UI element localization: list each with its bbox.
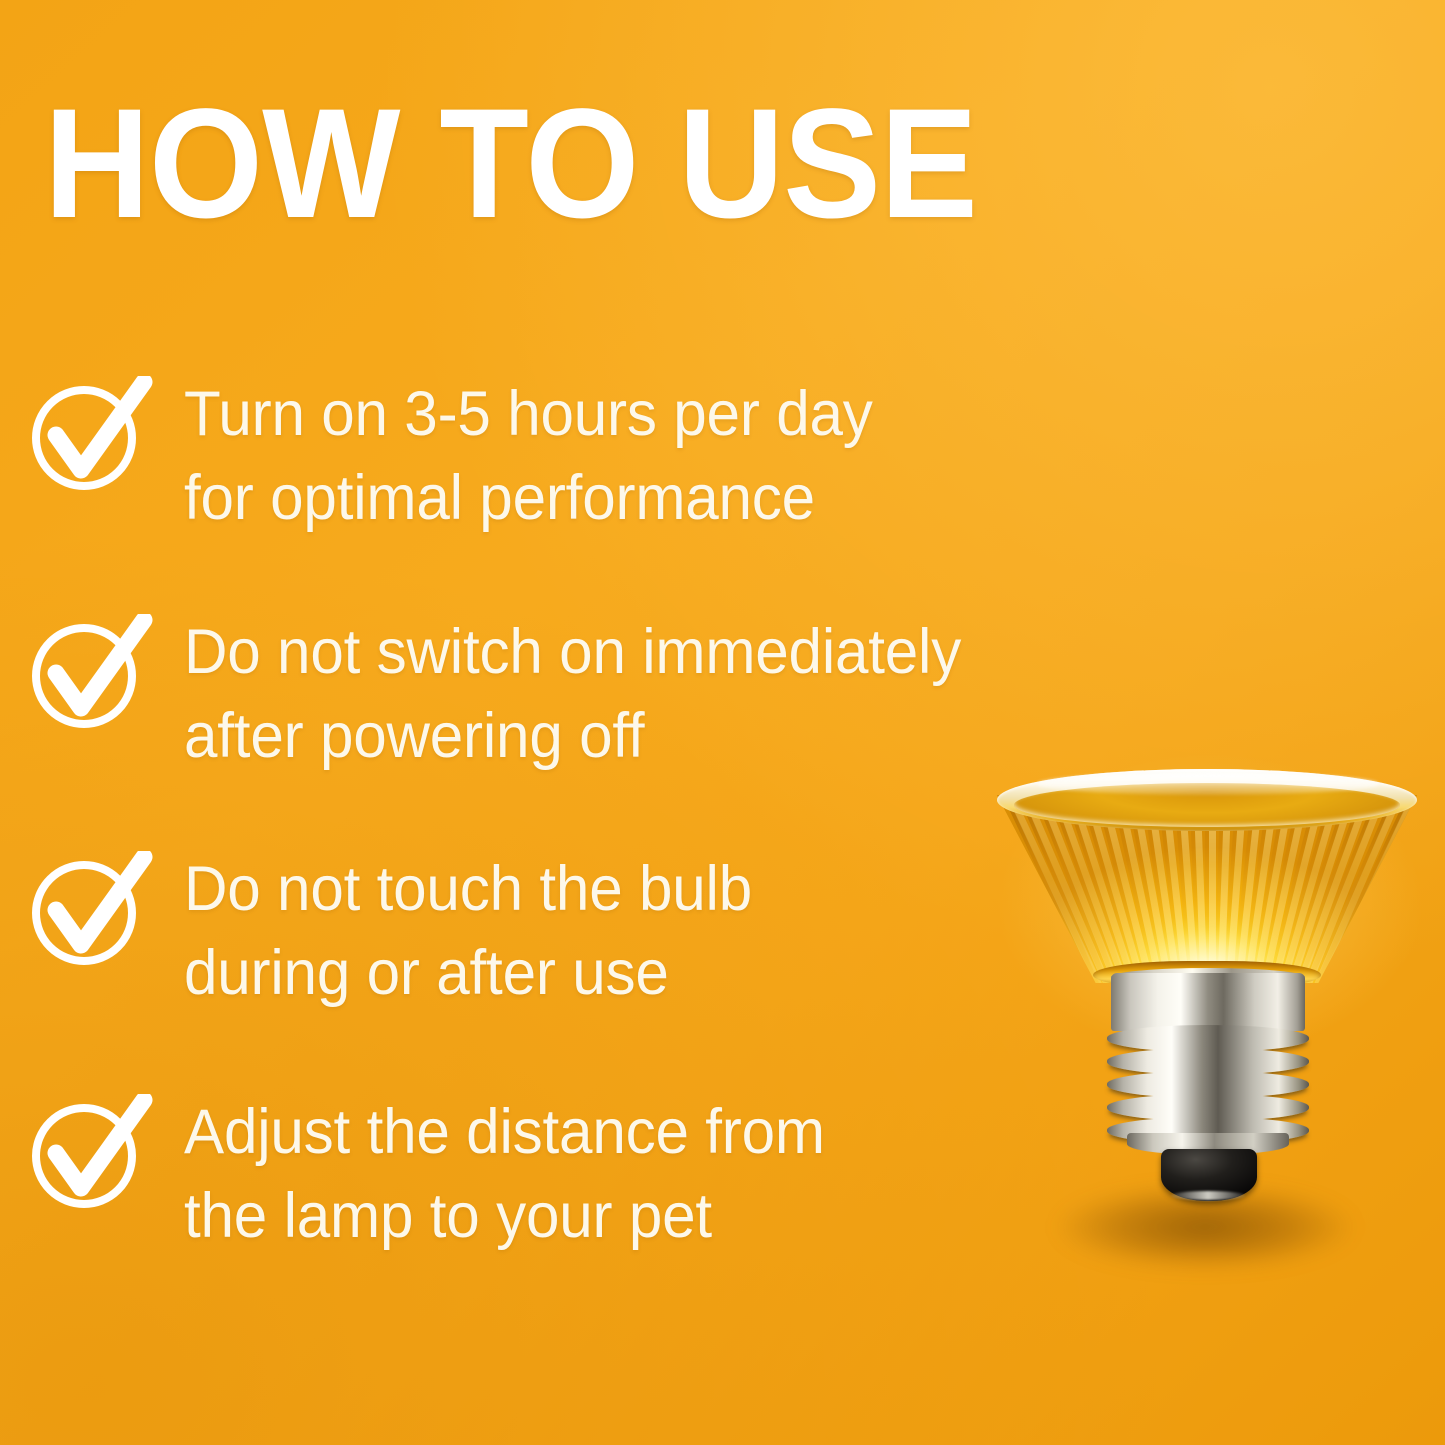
list-item-line1: Turn on 3-5 hours per day <box>184 372 873 456</box>
bulb-rim-highlight <box>1037 773 1379 795</box>
list-item-text: Turn on 3-5 hours per day for optimal pe… <box>184 372 873 540</box>
list-item-line1: Do not switch on immediately <box>184 610 961 694</box>
list-item-line2: the lamp to your pet <box>184 1174 825 1258</box>
check-circle-icon <box>32 1094 160 1212</box>
list-item-line1: Adjust the distance from <box>184 1090 825 1174</box>
bulb-e27-screw-base <box>1107 973 1309 1178</box>
infographic-canvas: HOW TO USE Turn on 3-5 hours per day for… <box>0 0 1445 1445</box>
check-circle-icon <box>32 851 160 969</box>
halogen-heat-bulb-image <box>975 735 1445 1255</box>
base-tip-highlight <box>1171 1191 1245 1200</box>
list-item-text: Do not touch the bulb during or after us… <box>184 847 752 1015</box>
list-item-line2: for optimal performance <box>184 456 873 540</box>
list-item-line2: during or after use <box>184 931 752 1015</box>
list-item-line2: after powering off <box>184 694 961 778</box>
list-item-text: Adjust the distance from the lamp to you… <box>184 1090 825 1258</box>
check-circle-icon <box>32 614 160 732</box>
check-circle-icon <box>32 376 160 494</box>
bulb-glass-reflector <box>997 765 1417 990</box>
list-item-line1: Do not touch the bulb <box>184 847 752 931</box>
list-item-text: Do not switch on immediately after power… <box>184 610 961 778</box>
base-collar <box>1111 973 1305 1031</box>
base-screw-threads <box>1107 1025 1309 1143</box>
